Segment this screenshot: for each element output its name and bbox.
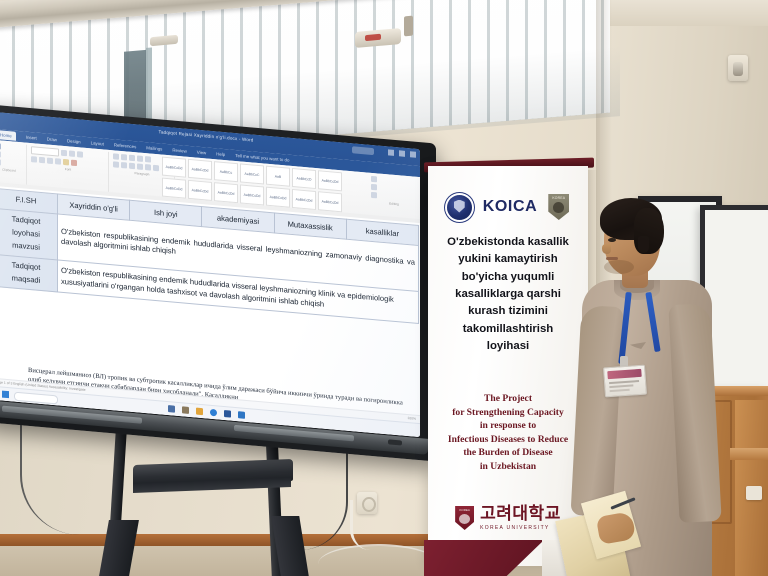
bold-icon[interactable] — [31, 156, 37, 163]
chrome-icon[interactable] — [238, 411, 245, 419]
tab-references[interactable]: References — [114, 142, 136, 149]
banner-subtitle-line: the Burden of Disease — [436, 446, 580, 460]
cut-icon[interactable] — [0, 151, 1, 158]
word-taskbar-icon[interactable] — [224, 410, 231, 418]
word-application[interactable]: Tadqiqot Rejasi Xayriddin o'g'li.docx - … — [0, 112, 420, 437]
tab-design[interactable]: Design — [67, 138, 81, 144]
banner-subtitle-line: in Uzbekistan — [436, 460, 580, 474]
increase-indent-icon[interactable] — [145, 156, 151, 163]
zoom-level[interactable]: 100% — [407, 416, 416, 421]
ribbon-group-font[interactable]: Font — [28, 145, 109, 192]
korea-university-shield-icon — [455, 506, 474, 530]
italic-icon[interactable] — [39, 157, 45, 164]
grow-font-icon[interactable] — [69, 150, 75, 157]
banner-title-line: kurash tizimini — [436, 303, 580, 320]
align-center-icon[interactable] — [121, 162, 127, 169]
style-item[interactable]: AaBbCcD — [292, 168, 316, 189]
select-icon[interactable] — [371, 192, 377, 199]
tab-help[interactable]: Help — [216, 151, 225, 157]
banner-title-line: O'zbekistonda kasallik — [436, 234, 580, 251]
tab-view[interactable]: View — [197, 150, 206, 156]
name-badge — [603, 365, 647, 398]
koica-seal-icon — [447, 195, 472, 220]
banner-logo-row: KOICA — [428, 190, 588, 224]
style-item[interactable]: AaBbCcC — [240, 163, 264, 184]
banner-title-line: kasalliklarga qarshi — [436, 286, 580, 303]
badge-header-band — [607, 369, 641, 379]
motion-sensor-icon — [728, 55, 748, 81]
style-item[interactable]: AaBbCcDd — [188, 180, 212, 201]
badge-text-line — [609, 384, 633, 388]
ribbon-group-clipboard[interactable]: Clipboard — [0, 142, 27, 185]
style-item[interactable]: AaBbCcDd — [188, 159, 212, 180]
style-item[interactable]: AaBbCcDd — [162, 157, 186, 178]
style-item[interactable]: AaB — [266, 166, 290, 187]
numbering-icon[interactable] — [121, 154, 127, 161]
font-color-icon[interactable] — [71, 160, 77, 167]
podium-shelf — [730, 448, 768, 460]
window-controls[interactable] — [388, 149, 416, 157]
korea-university-english: KOREA UNIVERSITY — [480, 525, 561, 531]
style-item[interactable]: AaBbCcDd — [318, 191, 342, 212]
style-item[interactable]: AaBbCcDd — [292, 189, 316, 210]
tab-home[interactable]: Home — [0, 130, 16, 141]
badge-text-line — [609, 380, 639, 384]
tab-layout[interactable]: Layout — [91, 140, 104, 146]
banner-title: O'zbekistonda kasallik yukini kamaytiris… — [436, 234, 580, 355]
banner-title-line: takomillashtirish — [436, 321, 580, 338]
format-painter-icon[interactable] — [0, 159, 1, 166]
cell-research-goal-label: Tadqiqot maqsadi — [0, 254, 58, 292]
file-explorer-icon[interactable] — [168, 405, 175, 413]
decrease-indent-icon[interactable] — [137, 155, 143, 162]
cell-project-topic-label: Tadqiqot loyohasi mavzusi — [0, 208, 58, 259]
start-button-icon[interactable] — [2, 391, 9, 399]
minimize-icon[interactable] — [388, 149, 394, 156]
underline-icon[interactable] — [47, 158, 53, 165]
multilevel-list-icon[interactable] — [129, 155, 135, 162]
banner-subtitle-line: Infectious Diseases to Reduce — [436, 433, 580, 447]
browser-icon[interactable] — [196, 408, 203, 416]
display-screen[interactable]: Tadqiqot Rejasi Xayriddin o'g'li.docx - … — [0, 112, 420, 437]
shrink-font-icon[interactable] — [77, 151, 83, 158]
korea-shield-icon — [548, 194, 569, 220]
strikethrough-icon[interactable] — [55, 158, 61, 165]
power-cable — [350, 500, 383, 550]
align-right-icon[interactable] — [129, 163, 135, 170]
banner-subtitle-line: The Project — [436, 392, 580, 406]
maximize-icon[interactable] — [399, 150, 405, 157]
banner-title-line: loyihasi — [436, 338, 580, 355]
style-item[interactable]: AaBbCcDd — [266, 187, 290, 208]
banner-subtitle-line: in response to — [436, 419, 580, 433]
korea-university-korean: 고려대학교 — [480, 506, 561, 523]
align-left-icon[interactable] — [113, 161, 119, 168]
photo-scene: Tadqiqot Rejasi Xayriddin o'g'li.docx - … — [0, 0, 768, 576]
replace-icon[interactable] — [371, 184, 377, 191]
banner-title-line: bo'yicha yuqumli — [436, 269, 580, 286]
presenter-nose — [602, 244, 611, 254]
close-icon[interactable] — [410, 151, 416, 158]
tab-mailings[interactable]: Mailings — [146, 145, 162, 151]
roller-bracket — [404, 16, 413, 37]
presenter-jaw-shadow — [604, 260, 634, 274]
tab-draw[interactable]: Draw — [47, 136, 57, 142]
style-item[interactable]: AaBbCcDd — [318, 170, 342, 191]
interactive-display[interactable]: Tadqiqot Rejasi Xayriddin o'g'li.docx - … — [0, 104, 436, 462]
right-wall-outlet-icon — [746, 486, 762, 500]
find-icon[interactable] — [371, 176, 377, 183]
borders-icon[interactable] — [153, 165, 159, 172]
tab-insert[interactable]: Insert — [26, 135, 37, 141]
banner-title-line: yukini kamaytirish — [436, 251, 580, 268]
ribbon-group-editing[interactable]: Editing — [368, 175, 420, 220]
style-item[interactable]: AaBbCc — [214, 161, 238, 182]
presenter — [576, 196, 716, 576]
presenter-sideburn — [638, 236, 649, 253]
paste-icon[interactable] — [0, 143, 1, 150]
account-chip[interactable] — [352, 146, 374, 155]
telegram-icon[interactable] — [210, 409, 217, 417]
badge-text-line — [610, 389, 630, 392]
highlight-icon[interactable] — [63, 159, 69, 166]
banner-subtitle: The Project for Strengthening Capacity i… — [436, 392, 580, 474]
folder-icon[interactable] — [182, 406, 189, 414]
word-document-title: Tadqiqot Rejasi Xayriddin o'g'li.docx - … — [159, 129, 254, 142]
bullets-icon[interactable] — [113, 153, 119, 160]
koica-wordmark: KOICA — [483, 198, 538, 216]
style-item[interactable]: AaBbCcDd — [214, 182, 238, 203]
tab-review[interactable]: Review — [172, 147, 186, 153]
style-item[interactable]: AaBbCcDd — [162, 178, 186, 199]
line-spacing-icon[interactable] — [145, 164, 151, 171]
banner-subtitle-line: for Strengthening Capacity — [436, 406, 580, 420]
koica-banner: KOICA O'zbekistonda kasallik yukini kama… — [428, 166, 588, 566]
justify-icon[interactable] — [137, 163, 143, 170]
font-size-select[interactable] — [61, 150, 67, 157]
style-item[interactable]: AaBbCcDd — [240, 184, 264, 205]
